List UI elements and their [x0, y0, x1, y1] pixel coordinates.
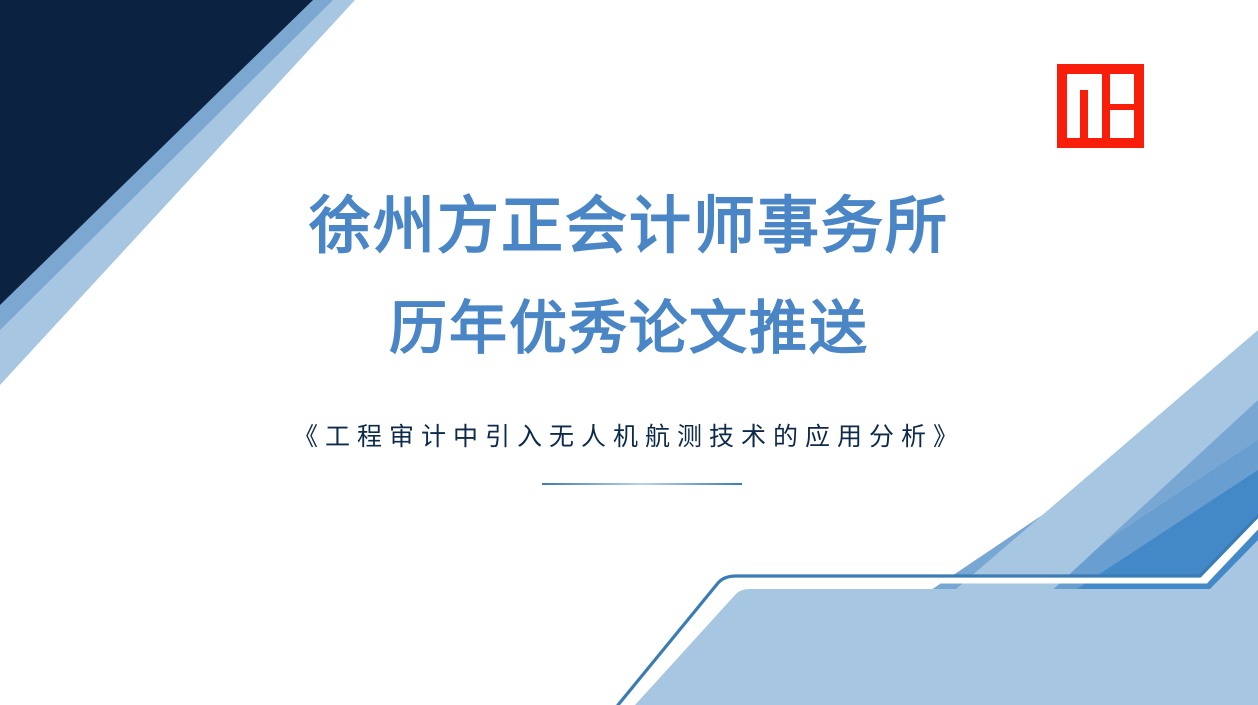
accent-outline-stroke: [618, 516, 1258, 705]
pale-blue-corner-band: [920, 330, 1258, 620]
founder-square-logo: [1057, 64, 1144, 148]
logo-right-slot-top: [1110, 74, 1134, 104]
logo-left-stem: [1080, 90, 1088, 138]
navy-triangle: [0, 0, 313, 305]
title-slide: 徐州方正会计师事务所 历年优秀论文推送 《工程审计中引入无人机航测技术的应用分析…: [0, 0, 1258, 705]
title-divider-line: [542, 483, 742, 485]
medium-blue-corner-band: [760, 370, 1258, 705]
paper-title: 《工程审计中引入无人机航测技术的应用分析》: [0, 425, 1258, 450]
deep-blue-corner-wedge: [860, 440, 1258, 705]
logo-left-top-bridge: [1067, 74, 1102, 90]
pale-blue-plate: [635, 540, 1258, 705]
mid-blue-diagonal-band: [0, 0, 333, 330]
organization-title-line-1: 徐州方正会计师事务所: [0, 196, 1258, 258]
plate-white-gap-stroke: [722, 523, 1258, 586]
organization-title-line-2: 历年优秀论文推送: [0, 300, 1258, 358]
logo-right-slot-bottom: [1110, 110, 1134, 138]
